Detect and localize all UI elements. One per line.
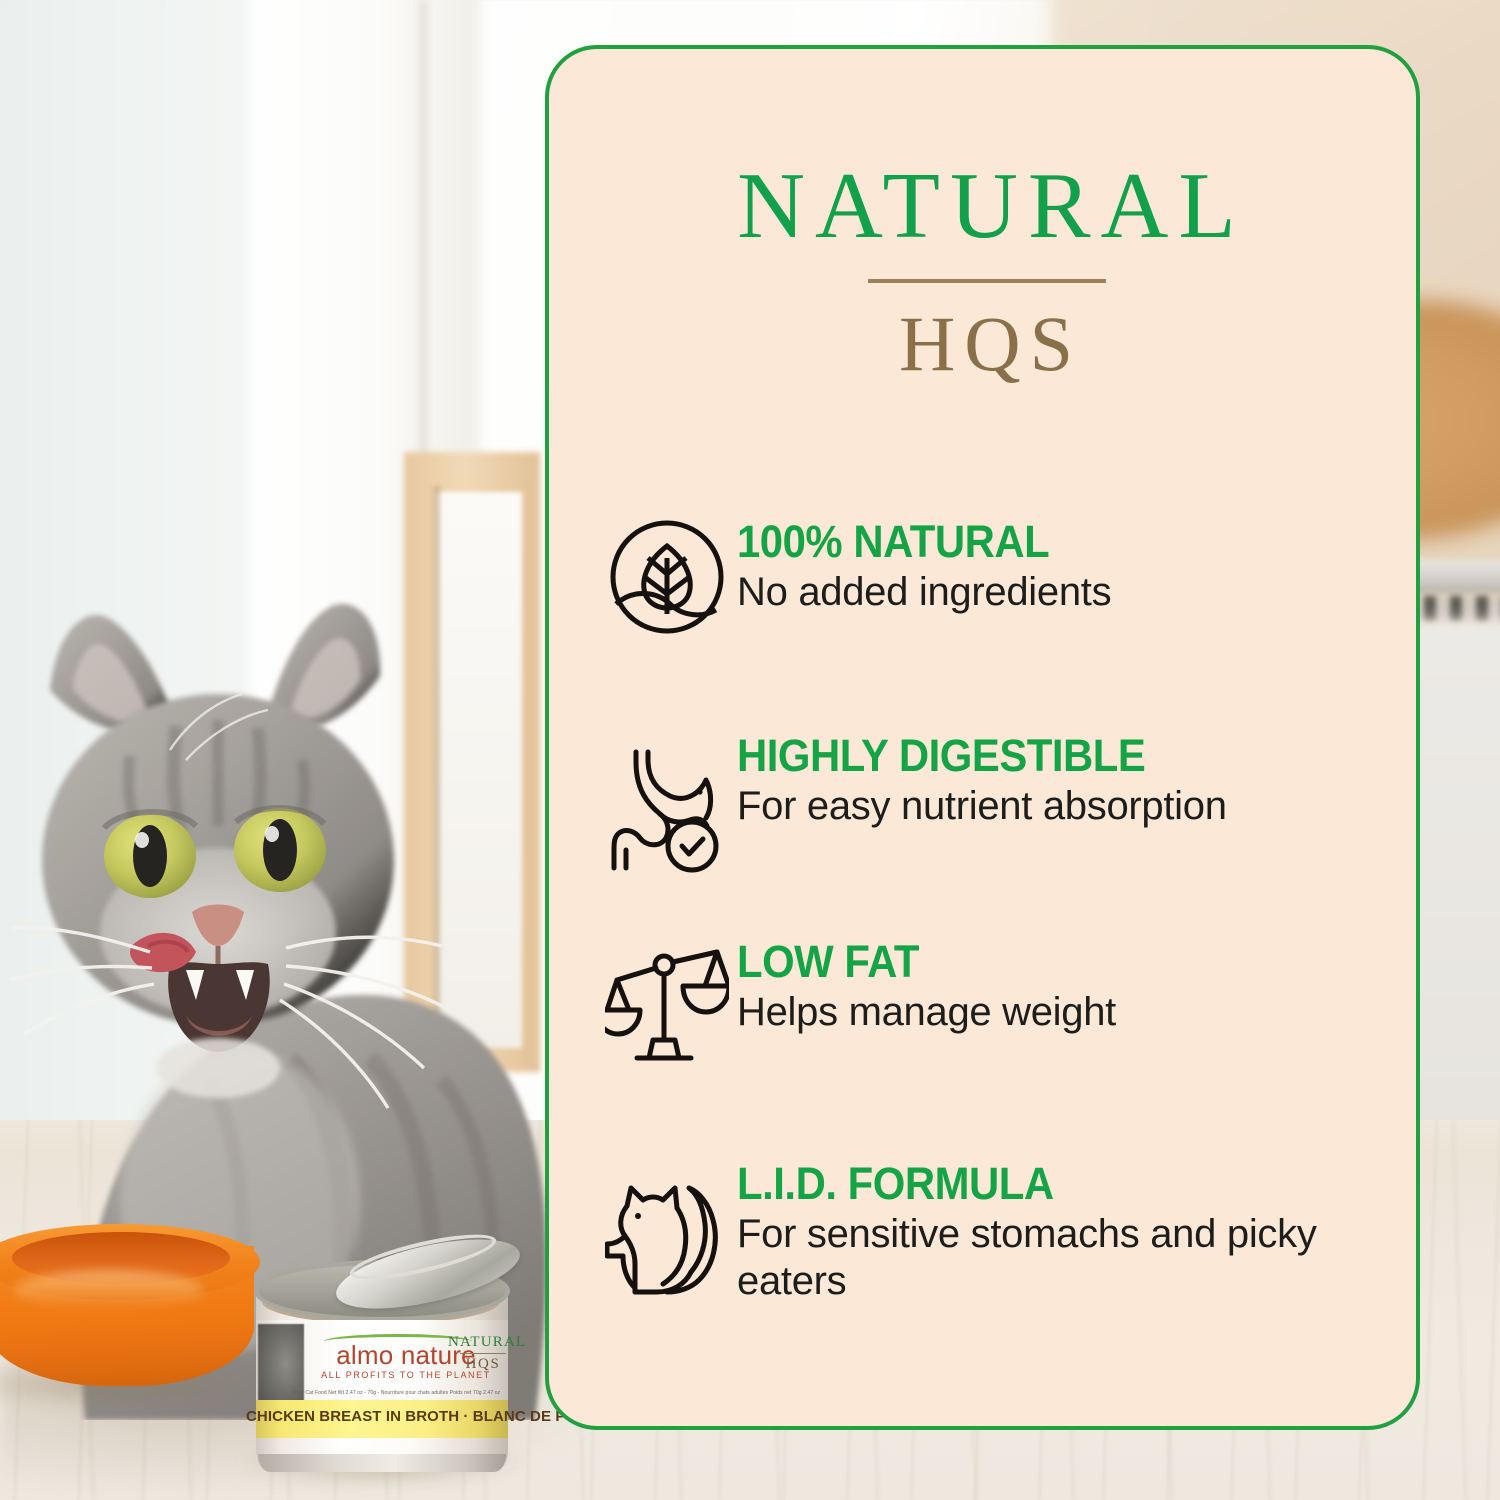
feature-item-digestible: HIGHLY DIGESTIBLE For easy nutrient abso… <box>549 728 1424 874</box>
feature-item-low-fat: LOW FAT Helps manage weight <box>549 934 1424 1064</box>
product-can: almo nature ALL PROFITS TO THE PLANET NA… <box>252 1258 520 1478</box>
brand-lockup: NATURAL HQS <box>549 159 1424 383</box>
brand-name-natural: NATURAL <box>559 159 1424 253</box>
feature-text: LOW FAT Helps manage weight <box>737 934 1424 1036</box>
brand-divider-rule <box>868 279 1106 283</box>
can-flavor-text: CHICKEN BREAST IN BROTH · BLANC DE POULE… <box>246 1408 518 1425</box>
bowl-highlight <box>14 1270 204 1310</box>
feature-title: L.I.D. FORMULA <box>737 1160 1376 1207</box>
feature-title: 100% NATURAL <box>737 518 1376 565</box>
can-label-rule <box>460 1353 506 1354</box>
can-base <box>258 1454 506 1472</box>
brand-name-hqs: HQS <box>557 305 1424 383</box>
can-line-natural: NATURAL <box>448 1334 518 1351</box>
feature-desc: Helps manage weight <box>737 989 1424 1035</box>
feature-item-lid-formula: L.I.D. FORMULA For sensitive stomachs an… <box>549 1156 1424 1304</box>
sitting-cat-icon <box>597 1156 737 1302</box>
feature-desc: No added ingredients <box>737 569 1424 615</box>
can-line-hqs: HQS <box>448 1356 518 1373</box>
feature-item-natural: 100% NATURAL No added ingredients <box>549 514 1424 636</box>
feature-desc: For sensitive stomachs and picky eaters <box>737 1211 1424 1304</box>
feature-desc: For easy nutrient absorption <box>737 783 1424 829</box>
info-panel: NATURAL HQS <box>545 45 1420 1430</box>
feature-text: HIGHLY DIGESTIBLE For easy nutrient abso… <box>737 728 1424 830</box>
feature-text: L.I.D. FORMULA For sensitive stomachs an… <box>737 1156 1424 1304</box>
feature-text: 100% NATURAL No added ingredients <box>737 514 1424 616</box>
stomach-check-icon <box>597 728 737 874</box>
feature-list: 100% NATURAL No added ingredients <box>549 514 1424 1304</box>
can-fineprint: Adult Cat Food Net Wt 2.47 oz - 70g - No… <box>292 1390 492 1396</box>
leaf-in-circle-icon <box>597 514 737 636</box>
can-label-cat-photo <box>258 1324 304 1412</box>
feature-title: LOW FAT <box>737 938 1376 985</box>
cat-food-bowl <box>0 1228 268 1404</box>
balance-scale-icon <box>597 934 737 1064</box>
feature-title: HIGHLY DIGESTIBLE <box>737 732 1376 779</box>
product-feature-graphic: almo nature ALL PROFITS TO THE PLANET NA… <box>0 0 1500 1500</box>
